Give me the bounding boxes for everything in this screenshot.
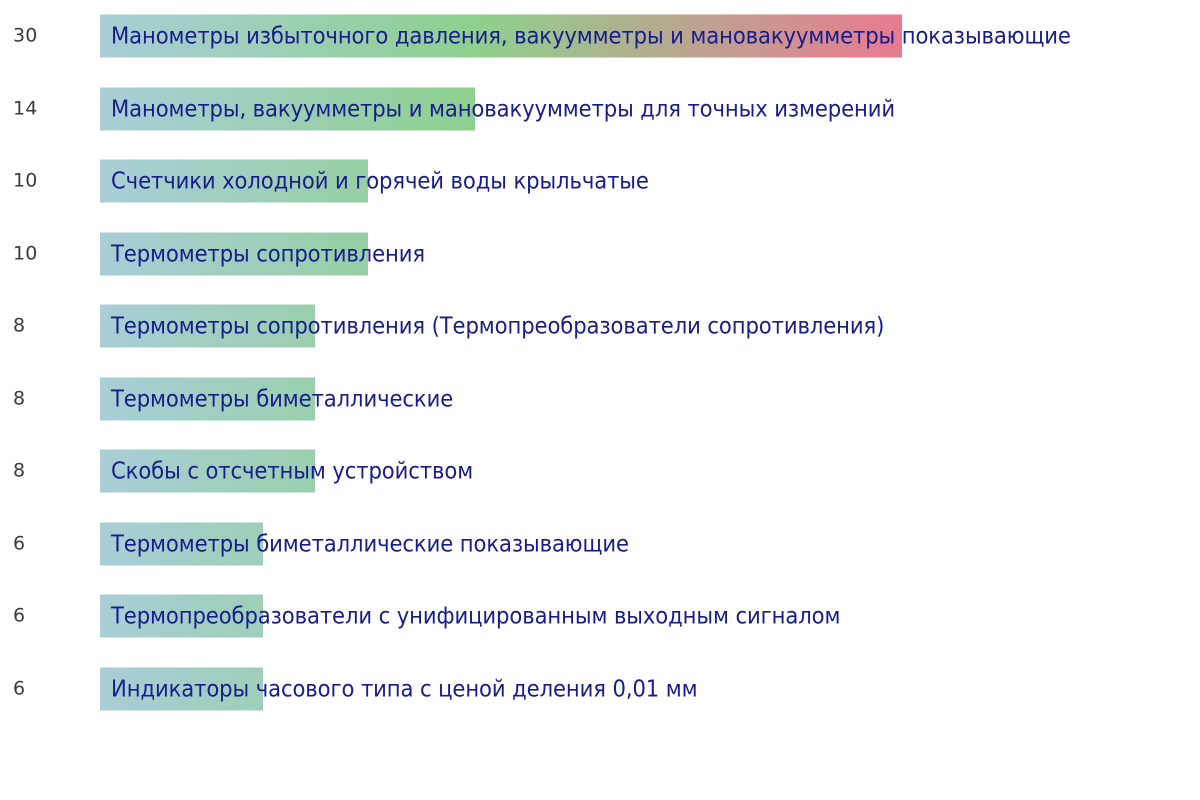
row-category-label: Термометры сопротивления (Термопреобразо… (111, 315, 884, 339)
chart-row: 14 Манометры, вакуумметры и мановакуумме… (0, 73, 1200, 146)
row-value-label: 6 (13, 679, 25, 698)
row-category-label: Термопреобразователи с унифицированным в… (111, 605, 840, 629)
row-value-label: 10 (13, 172, 38, 191)
row-value-label: 6 (13, 607, 25, 626)
row-category-label: Термометры сопротивления (111, 242, 425, 266)
row-value-label: 6 (13, 534, 25, 553)
row-value-label: 8 (13, 317, 25, 336)
row-value-label: 8 (13, 389, 25, 408)
chart-row: 8 Термометры биметаллические (0, 363, 1200, 436)
row-category-label: Манометры, вакуумметры и мановакуумметры… (111, 97, 895, 121)
chart-row: 8 Скобы с отсчетным устройством (0, 435, 1200, 508)
row-category-label: Манометры избыточного давления, вакуумме… (111, 25, 1071, 49)
row-category-label: Скобы с отсчетным устройством (111, 460, 473, 484)
chart-row: 8 Термометры сопротивления (Термопреобра… (0, 290, 1200, 363)
row-category-label: Термометры биметаллические (111, 387, 453, 411)
chart-row: 10 Счетчики холодной и горячей воды крыл… (0, 145, 1200, 218)
chart-row: 6 Индикаторы часового типа с ценой делен… (0, 653, 1200, 726)
chart-row: 10 Термометры сопротивления (0, 218, 1200, 291)
row-value-label: 8 (13, 462, 25, 481)
row-category-label: Термометры биметаллические показывающие (111, 532, 629, 556)
chart-row: 6 Термопреобразователи с унифицированным… (0, 580, 1200, 653)
row-category-label: Счетчики холодной и горячей воды крыльча… (111, 170, 649, 194)
row-category-label: Индикаторы часового типа с ценой деления… (111, 677, 697, 701)
chart-row: 6 Термометры биметаллические показывающи… (0, 508, 1200, 581)
horizontal-bar-chart: 30 Манометры избыточного давления, вакуу… (0, 0, 1200, 800)
chart-row: 30 Манометры избыточного давления, вакуу… (0, 0, 1200, 73)
row-value-label: 10 (13, 244, 38, 263)
row-value-label: 14 (13, 99, 38, 118)
row-value-label: 30 (13, 27, 38, 46)
